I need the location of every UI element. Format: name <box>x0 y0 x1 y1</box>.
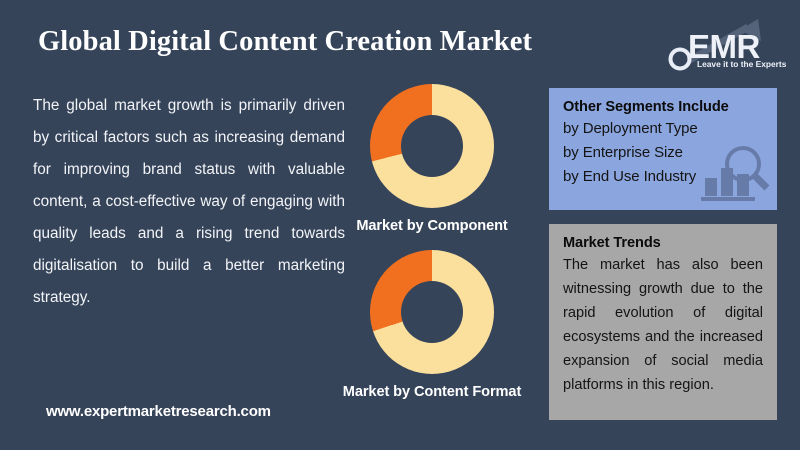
infographic-canvas: Global Digital Content Creation Market E… <box>0 0 800 450</box>
emr-logo: EMR Leave it to the Experts! <box>662 14 786 72</box>
chart-market-by-component: Market by Component <box>332 84 532 236</box>
panel-market-trends: Market Trends The market has also been w… <box>549 224 777 420</box>
donut-ring <box>370 84 494 208</box>
segment-line-deployment-type: by Deployment Type <box>563 117 763 141</box>
page-title: Global Digital Content Creation Market <box>38 26 638 57</box>
segment-line-enterprise-size: by Enterprise Size <box>563 141 763 165</box>
segment-line-end-use-industry: by End Use Industry <box>563 165 763 189</box>
panel-other-segments: Other Segments Include by Deployment Typ… <box>549 88 777 210</box>
donut-chart-content-format <box>370 250 494 374</box>
chart-caption-component: Market by Component <box>332 217 532 236</box>
panel-market-trends-heading: Market Trends <box>563 235 763 251</box>
lead-paragraph: The global market growth is primarily dr… <box>33 90 345 314</box>
donut-ring <box>370 250 494 374</box>
panel-market-trends-body: The market has also been witnessing grow… <box>563 253 763 397</box>
svg-text:Leave it to the Experts!: Leave it to the Experts! <box>697 59 786 69</box>
panel-other-segments-heading: Other Segments Include <box>563 99 763 115</box>
chart-market-by-content-format: Market by Content Format <box>332 250 532 402</box>
chart-caption-content-format: Market by Content Format <box>332 383 532 402</box>
emr-arrow-logo-icon: EMR Leave it to the Experts! <box>662 14 786 72</box>
website-url: www.expertmarketresearch.com <box>46 403 271 420</box>
donut-chart-component <box>370 84 494 208</box>
